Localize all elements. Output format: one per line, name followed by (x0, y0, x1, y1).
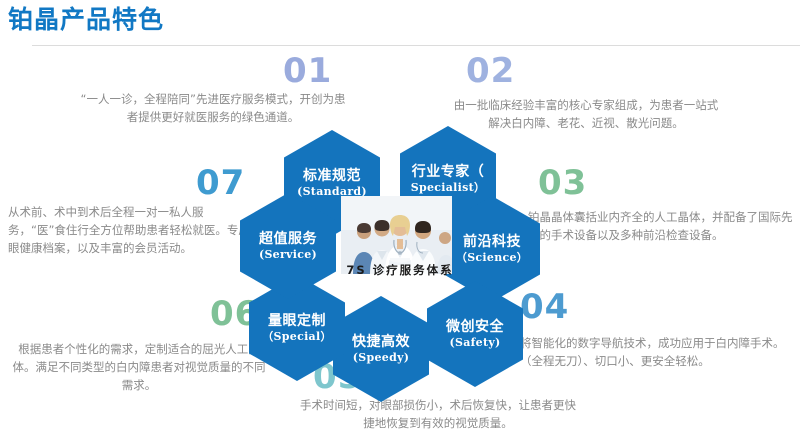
hexagon-special-label-en: （Special） (249, 330, 345, 344)
hexagon-safety-label-en: (Safety) (449, 336, 500, 350)
hexagon-speedy-label-cn: 快捷高效 (352, 334, 410, 351)
hexagon-service-label-cn: 超值服务 (259, 231, 317, 248)
hexagon-speedy-label-en: (Speedy) (353, 351, 410, 365)
hexagon-speedy[interactable]: 快捷高效 (Speedy) (333, 296, 429, 402)
hexagon-special-label-cn: 量眼定制 (249, 313, 345, 330)
hexagon-standard-label-cn: 标准规范 (303, 168, 361, 185)
hexagon-science-label-cn: 前沿科技 (444, 234, 540, 251)
hexagon-safety-label-cn: 微创安全 (446, 319, 504, 336)
hexagon-specialist-label-en: Specialist） (400, 181, 496, 195)
hexagon-service-label-en: (Service) (259, 248, 317, 262)
product-features-page: 铂晶产品特色 01 02 03 04 05 06 07 “一人一诊，全程陪同”先… (0, 0, 800, 438)
hexagon-safety[interactable]: 微创安全 (Safety) (427, 281, 523, 387)
hexagon-specialist-label-cn: 行业专家（ (400, 164, 496, 181)
center-caption: 7S 诊疗服务体系 (330, 262, 470, 278)
